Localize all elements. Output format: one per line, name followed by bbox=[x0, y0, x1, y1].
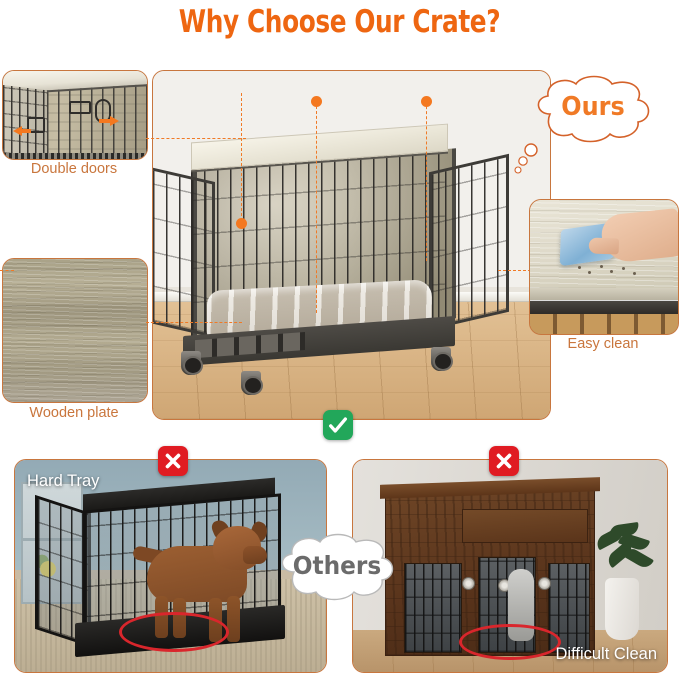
easy-clean-photo bbox=[530, 200, 678, 334]
ours-speech-bubble: Ours bbox=[526, 72, 660, 144]
cross-icon bbox=[493, 450, 515, 472]
check-icon bbox=[327, 414, 349, 436]
callout-line-3 bbox=[426, 101, 427, 261]
infographic-canvas: Why Choose Our Crate? Double doors Woode… bbox=[0, 0, 679, 675]
ours-crate-photo bbox=[153, 71, 550, 419]
cross-badge-left bbox=[158, 446, 188, 476]
ours-label: Ours bbox=[531, 72, 654, 144]
hand bbox=[600, 208, 679, 264]
feature-panel-double-doors[interactable] bbox=[2, 70, 148, 160]
highlight-ellipse-difficult-clean bbox=[459, 624, 561, 660]
feature-panel-wooden-plate[interactable] bbox=[2, 258, 148, 403]
wooden-plate-photo bbox=[3, 259, 147, 402]
check-badge bbox=[323, 410, 353, 440]
callout-line-1 bbox=[241, 93, 242, 221]
callout-dot-3 bbox=[421, 96, 432, 107]
callout-line-2 bbox=[316, 101, 317, 313]
main-product-panel[interactable] bbox=[152, 70, 551, 420]
double-doors-photo bbox=[3, 71, 147, 159]
plant-leaves bbox=[593, 522, 655, 584]
ours-bubble-trail bbox=[514, 142, 540, 176]
crate-illustration bbox=[163, 133, 503, 393]
callout-dot-2 bbox=[311, 96, 322, 107]
feature-panel-easy-clean[interactable] bbox=[529, 199, 679, 335]
caption-easy-clean: Easy clean bbox=[529, 336, 677, 352]
connector-double-doors bbox=[146, 138, 246, 139]
connector-wooden-plate bbox=[146, 322, 242, 323]
caption-wooden-plate: Wooden plate bbox=[2, 405, 146, 421]
highlight-ellipse-hard-tray bbox=[119, 612, 229, 652]
crumbs bbox=[574, 264, 640, 276]
label-difficult-clean: Difficult Clean bbox=[556, 645, 658, 664]
others-label: Others bbox=[276, 530, 399, 602]
others-speech-bubble: Others bbox=[271, 530, 403, 602]
cross-badge-right bbox=[489, 446, 519, 476]
page-title: Why Choose Our Crate? bbox=[68, 4, 611, 40]
plant-pot bbox=[605, 578, 639, 640]
callout-dot-1 bbox=[236, 218, 247, 229]
connector-left-edge bbox=[0, 270, 14, 271]
label-hard-tray: Hard Tray bbox=[27, 472, 99, 491]
cross-icon bbox=[162, 450, 184, 472]
caption-double-doors: Double doors bbox=[2, 161, 146, 177]
